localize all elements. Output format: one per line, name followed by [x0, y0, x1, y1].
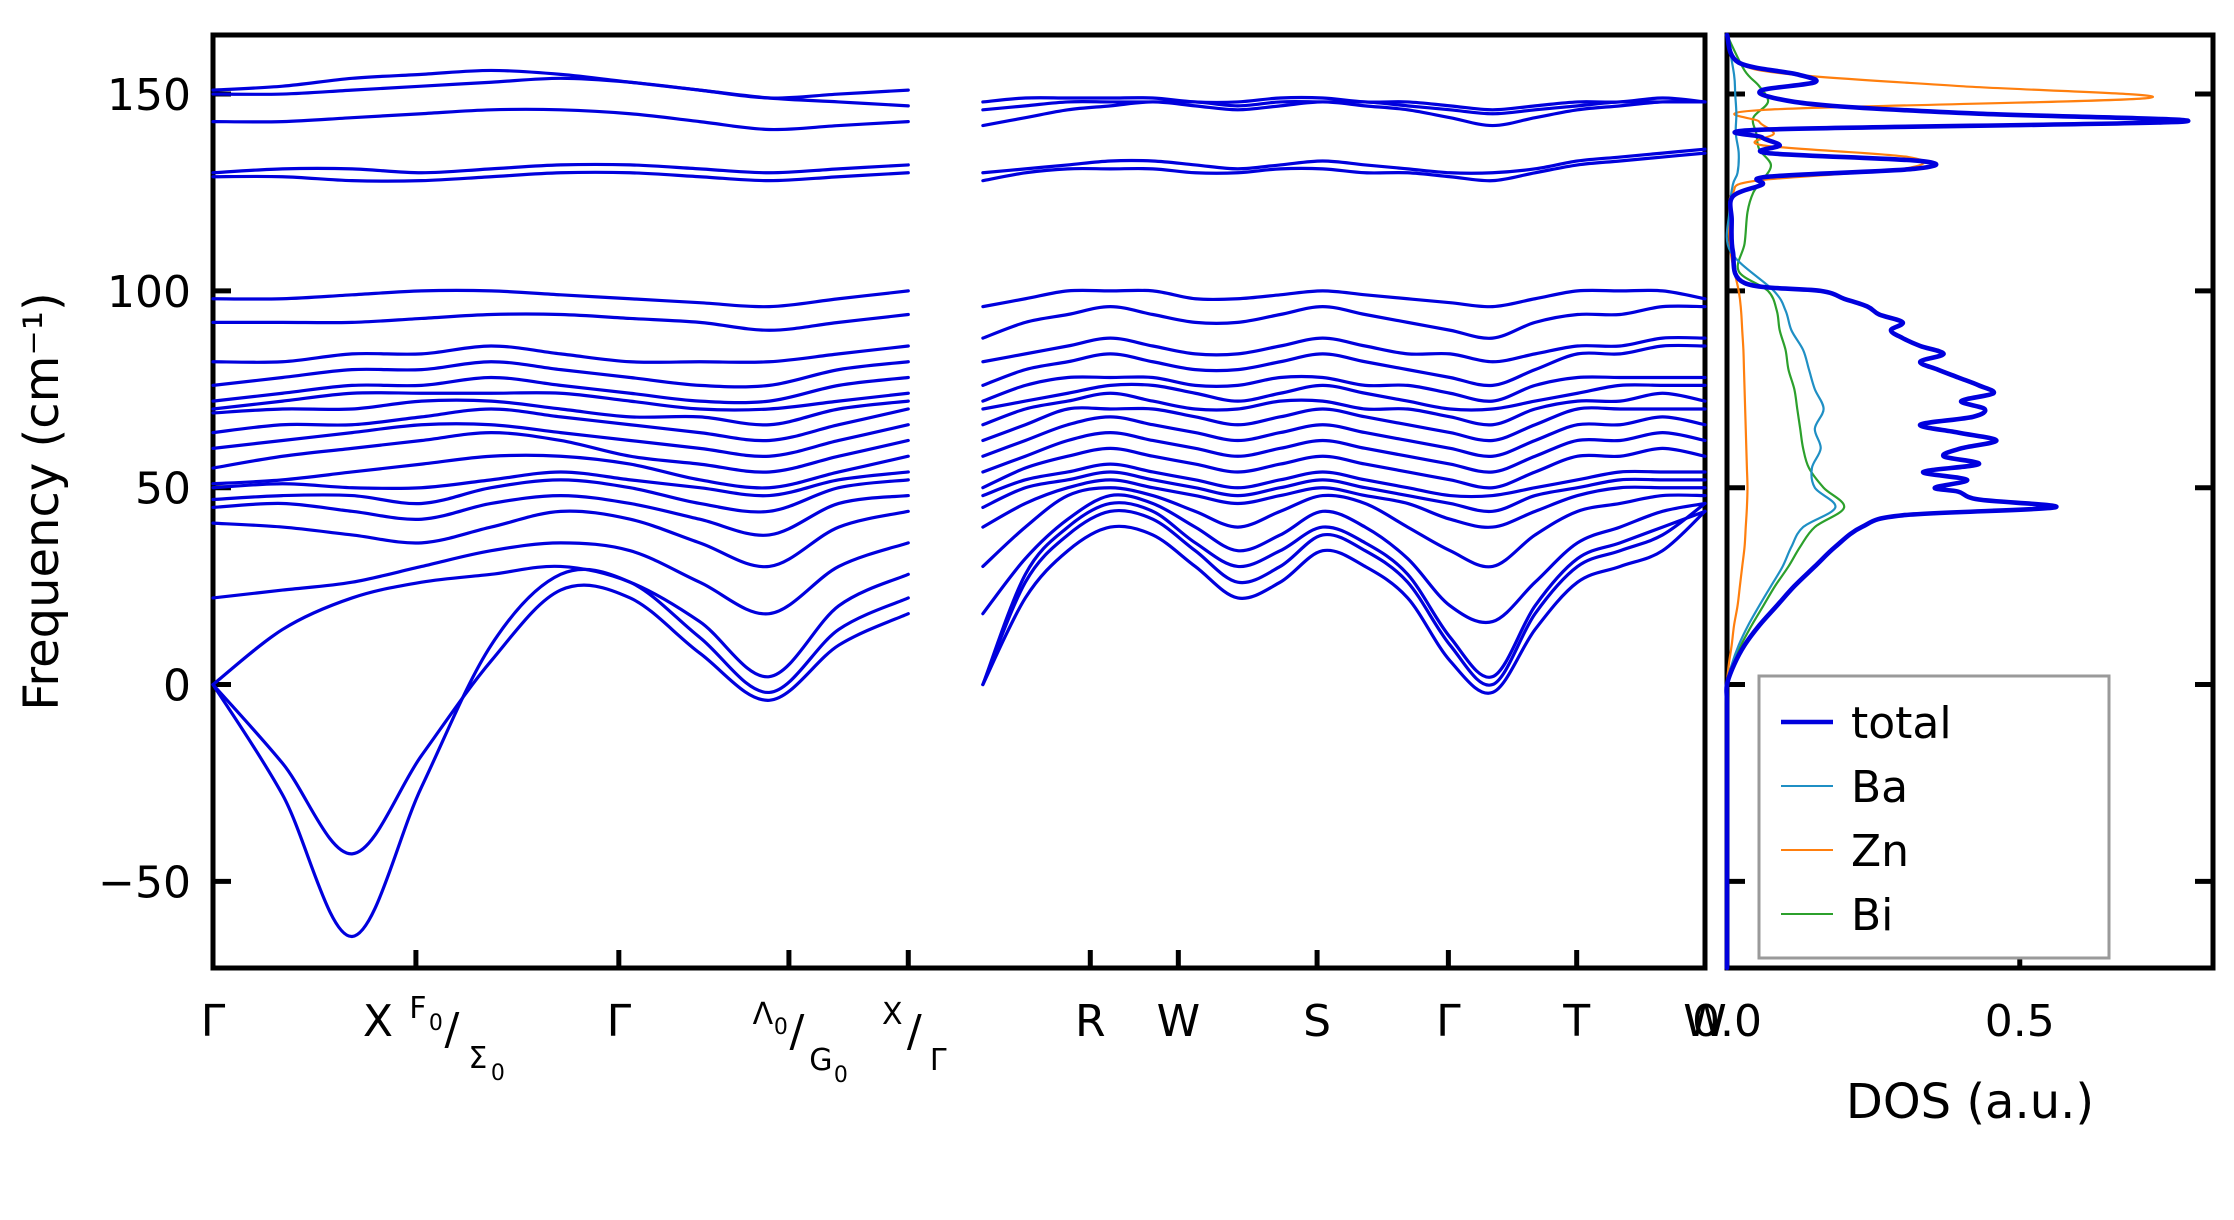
- label-main-X: X: [363, 996, 393, 1047]
- dos-legend: totalBaZnBi: [1759, 676, 2109, 958]
- label-slash: /: [789, 1006, 804, 1057]
- band-branch: [213, 109, 908, 129]
- x-tick-label-g3: Γ: [1436, 996, 1461, 1047]
- band-branch: [213, 585, 908, 854]
- figure-canvas: −50050100150Frequency (cm⁻¹)ΓXF0/Σ0ΓΛ0/G…: [0, 0, 2234, 1220]
- band-branch: [983, 306, 1705, 338]
- x-tick-label-w1: W: [1157, 996, 1201, 1047]
- band-branch: [213, 400, 908, 425]
- x-axis-ticks: [213, 950, 1705, 968]
- band-branch: [983, 290, 1705, 306]
- label-main-sub-0: 0: [774, 1015, 788, 1040]
- y-tick-label: 50: [135, 464, 191, 515]
- band-branch: [213, 346, 908, 362]
- dos-x-tick-label: 0.5: [1985, 996, 2055, 1047]
- band-branch: [983, 345, 1705, 385]
- band-branch: [213, 377, 908, 402]
- bands-panel: −50050100150Frequency (cm⁻¹)ΓXF0/Σ0ΓΛ0/G…: [14, 35, 1727, 1088]
- plot-root: −50050100150Frequency (cm⁻¹)ΓXF0/Σ0ΓΛ0/G…: [14, 35, 2213, 1130]
- band-branch: [213, 70, 908, 98]
- label-sup-sub-0: 0: [429, 1011, 443, 1036]
- band-branch: [213, 362, 908, 387]
- label-sub-G: G: [809, 1043, 832, 1078]
- band-branch: [213, 172, 908, 181]
- x-tick-label-gamma-2: Γ: [607, 996, 632, 1047]
- y-axis-label: Frequency (cm⁻¹): [14, 292, 70, 710]
- band-branch: [213, 543, 908, 614]
- label-main-lambda: Λ: [753, 997, 774, 1032]
- label-sub-sub-0: 0: [834, 1063, 848, 1088]
- label-slash: /: [907, 1006, 922, 1057]
- x-tick-label-x-gamma: X/Γ: [882, 997, 947, 1078]
- y-tick-label: 100: [107, 267, 191, 318]
- label-main-X: X: [882, 997, 903, 1032]
- dos-x-ticks: 0.00.5: [1692, 950, 2055, 1047]
- band-branch: [983, 503, 1705, 685]
- label-sup-F: F: [409, 991, 426, 1026]
- label-slash: /: [444, 1004, 459, 1055]
- x-tick-label-gamma-1: Γ: [201, 996, 226, 1047]
- x-tick-label-x-f0-sigma0: XF0/Σ0: [363, 991, 505, 1086]
- band-branch: [213, 569, 908, 936]
- band-branch: [213, 290, 908, 306]
- legend-label-bi: Bi: [1851, 890, 1893, 941]
- x-tick-label-s: S: [1303, 996, 1331, 1047]
- label-sub-gamma: Γ: [930, 1043, 947, 1078]
- y-tick-label: −50: [98, 857, 191, 908]
- figure-root: −50050100150Frequency (cm⁻¹)ΓXF0/Σ0ΓΛ0/G…: [0, 0, 2234, 1220]
- legend-label-zn: Zn: [1851, 826, 1909, 877]
- x-tick-label-r: R: [1075, 996, 1106, 1047]
- legend-label-ba: Ba: [1851, 762, 1908, 813]
- x-tick-labels: ΓXF0/Σ0ΓΛ0/G0X/ΓRWSΓTW: [201, 991, 1727, 1088]
- band-curves: [213, 70, 1705, 936]
- band-branch: [983, 153, 1705, 181]
- band-branch: [213, 433, 908, 473]
- band-branch: [213, 314, 908, 330]
- dos-panel: 0.00.5DOS (a.u.): [1692, 35, 2213, 1130]
- x-tick-label-t: T: [1562, 996, 1590, 1047]
- x-tick-label-lambda0-g0: Λ0/G0: [753, 997, 848, 1088]
- dos-x-tick-label: 0.0: [1692, 996, 1762, 1047]
- legend-label-total: total: [1851, 698, 1952, 749]
- dos-x-axis-label: DOS (a.u.): [1846, 1074, 2094, 1130]
- label-sub-sub-0: 0: [491, 1061, 505, 1086]
- label-sub-sigma: Σ: [468, 1041, 487, 1076]
- y-tick-label: 0: [163, 661, 191, 712]
- y-tick-label: 150: [107, 70, 191, 121]
